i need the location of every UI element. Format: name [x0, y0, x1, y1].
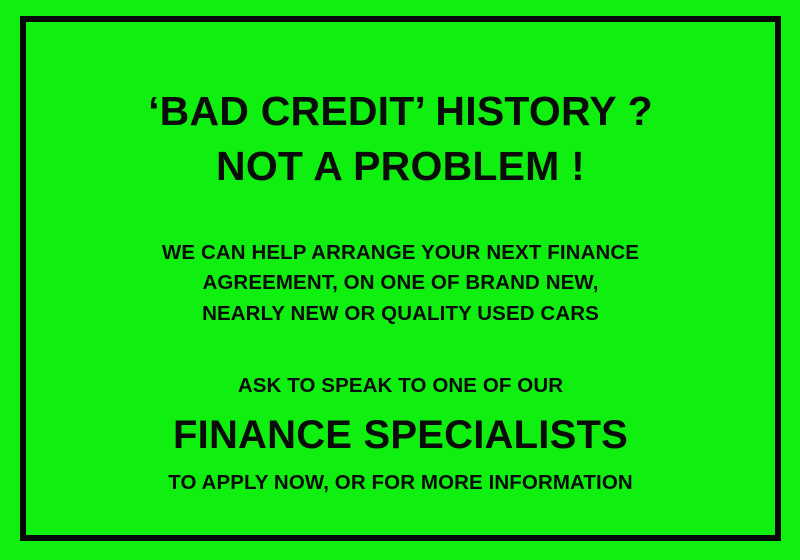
body-copy-line-1: WE CAN HELP ARRANGE YOUR NEXT FINANCE: [26, 238, 775, 268]
body-copy-line-2: AGREEMENT, ON ONE OF BRAND NEW,: [26, 268, 775, 298]
call-to-action-block: ASK TO SPEAK TO ONE OF OUR FINANCE SPECI…: [26, 373, 775, 496]
cta-main-heading: FINANCE SPECIALISTS: [26, 409, 775, 461]
poster-content: ‘BAD CREDIT’ HISTORY ? NOT A PROBLEM ! W…: [26, 22, 775, 535]
advertisement-poster: ‘BAD CREDIT’ HISTORY ? NOT A PROBLEM ! W…: [0, 0, 800, 560]
body-copy-line-3: NEARLY NEW OR QUALITY USED CARS: [26, 299, 775, 329]
body-copy-block: WE CAN HELP ARRANGE YOUR NEXT FINANCE AG…: [26, 238, 775, 329]
headline-line-1: ‘BAD CREDIT’ HISTORY ?: [26, 84, 775, 139]
headline-line-2: NOT A PROBLEM !: [26, 139, 775, 194]
cta-tail-line: TO APPLY NOW, OR FOR MORE INFORMATION: [26, 470, 775, 497]
headline-block: ‘BAD CREDIT’ HISTORY ? NOT A PROBLEM !: [26, 84, 775, 194]
cta-lead-line: ASK TO SPEAK TO ONE OF OUR: [26, 373, 775, 400]
